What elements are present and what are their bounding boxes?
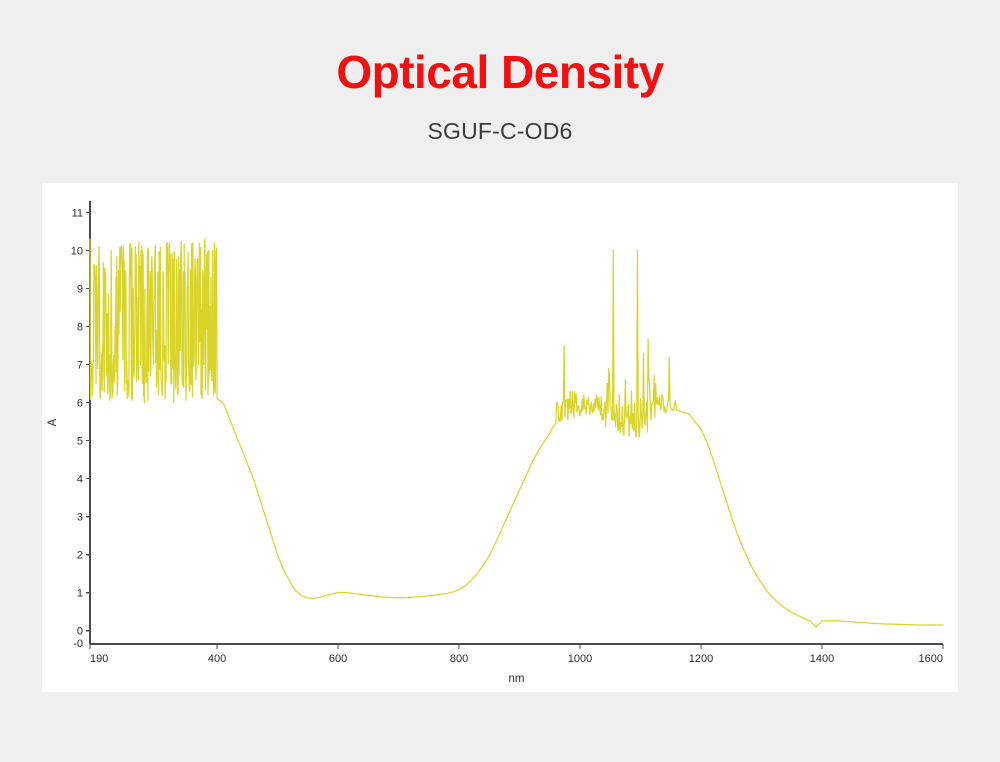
y-tick-label: 7 (77, 360, 83, 372)
y-axis: 01234567891011-0 (71, 201, 90, 650)
x-tick-label: 1400 (810, 653, 834, 665)
chart-panel: 01234567891011-0 19040060080010001200140… (42, 183, 958, 692)
y-tick-label: 6 (77, 398, 83, 410)
x-tick-label: 800 (450, 653, 468, 665)
page-subtitle: SGUF-C-OD6 (0, 118, 1000, 145)
data-series-group (90, 239, 943, 627)
y-tick-label: 5 (77, 436, 83, 448)
y-tick-label: 2 (77, 550, 83, 562)
x-tick-label: 1600 (919, 653, 943, 665)
y-tick-label: 9 (77, 283, 83, 295)
y-tick-label: 8 (77, 321, 83, 333)
page-root: Optical Density SGUF-C-OD6 0123456789101… (0, 0, 1000, 762)
data-series-line (90, 239, 943, 627)
y-tick-label: 3 (77, 512, 83, 524)
x-axis-title: nm (509, 673, 525, 685)
y-tick-label: 4 (77, 474, 83, 486)
optical-density-chart: 01234567891011-0 19040060080010001200140… (42, 183, 958, 692)
y-tick-label: 10 (71, 245, 83, 257)
x-tick-label: 600 (329, 653, 347, 665)
page-title: Optical Density (0, 48, 1000, 96)
x-tick-label: 400 (208, 653, 226, 665)
y-tick-label: 1 (77, 588, 83, 600)
x-axis: 1904006008001000120014001600 (90, 644, 943, 665)
x-tick-label: 1200 (689, 653, 713, 665)
y-tick-label: 0 (77, 626, 83, 638)
y-axis-title: A (47, 418, 59, 426)
y-tick-label: 11 (72, 207, 83, 219)
x-tick-label: 1000 (568, 653, 592, 665)
y-tick-label-negative-zero: -0 (73, 638, 83, 650)
x-tick-label: 190 (90, 653, 108, 665)
